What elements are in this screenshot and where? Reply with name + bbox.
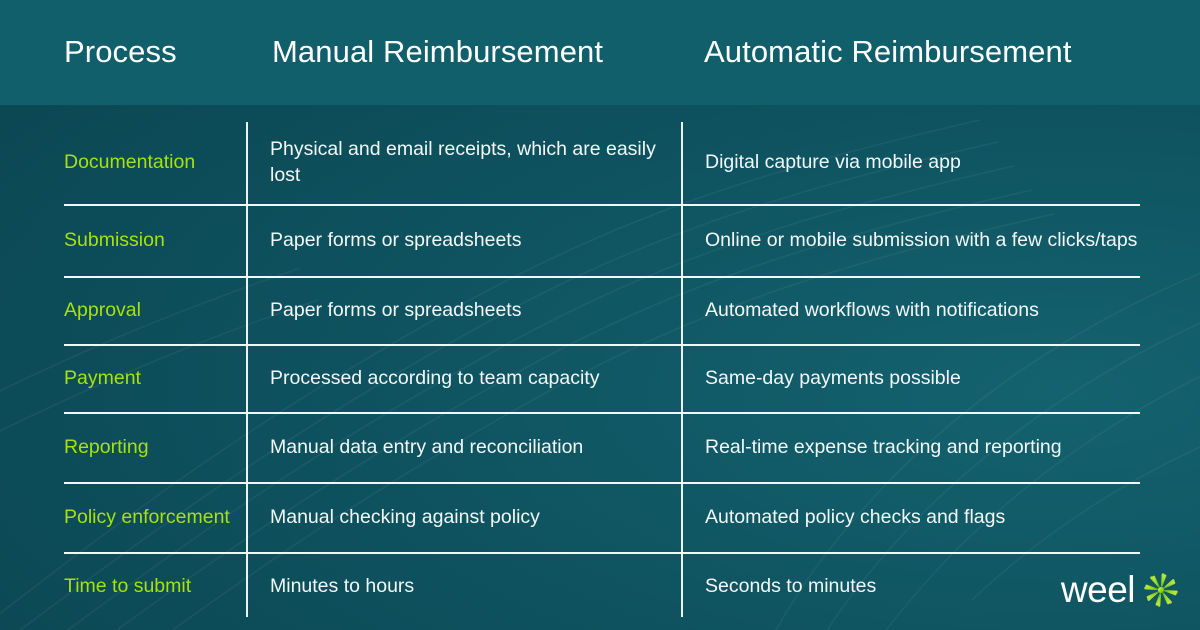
comparison-table-graphic: Process Manual Reimbursement Automatic R… xyxy=(0,0,1200,630)
row-automatic-cell: Automated policy checks and flags xyxy=(705,484,1145,552)
table-row: Approval Paper forms or spreadsheets Aut… xyxy=(0,278,1200,344)
row-automatic-text: Digital capture via mobile app xyxy=(705,150,961,176)
row-label-cell: Policy enforcement xyxy=(64,484,234,552)
row-automatic-cell: Same-day payments possible xyxy=(705,346,1145,412)
row-automatic-cell: Digital capture via mobile app xyxy=(705,122,1145,204)
row-manual-cell: Manual checking against policy xyxy=(270,484,670,552)
row-label: Policy enforcement xyxy=(64,505,230,531)
row-automatic-text: Automated workflows with notifications xyxy=(705,298,1039,324)
row-label: Time to submit xyxy=(64,574,191,600)
row-manual-text: Manual checking against policy xyxy=(270,505,540,531)
row-automatic-text: Online or mobile submission with a few c… xyxy=(705,228,1137,254)
row-manual-cell: Physical and email receipts, which are e… xyxy=(270,122,670,204)
header-cell-automatic-reimbursement: Automatic Reimbursement xyxy=(704,0,1072,105)
table-row: Payment Processed according to team capa… xyxy=(0,346,1200,412)
table-header-bar: Process Manual Reimbursement Automatic R… xyxy=(0,0,1200,105)
row-automatic-cell: Online or mobile submission with a few c… xyxy=(705,206,1145,276)
row-label-cell: Time to submit xyxy=(64,554,234,620)
table-row: Time to submit Minutes to hours Seconds … xyxy=(0,554,1200,620)
row-label: Approval xyxy=(64,298,141,324)
row-manual-text: Paper forms or spreadsheets xyxy=(270,228,521,254)
row-manual-cell: Minutes to hours xyxy=(270,554,670,620)
weel-pinwheel-icon xyxy=(1144,573,1178,607)
row-manual-text: Manual data entry and reconciliation xyxy=(270,435,583,461)
weel-wordmark: weel xyxy=(1061,571,1135,608)
row-manual-cell: Processed according to team capacity xyxy=(270,346,670,412)
row-automatic-text: Seconds to minutes xyxy=(705,574,876,600)
comparison-table-body: Documentation Physical and email receipt… xyxy=(0,105,1200,630)
row-label: Reporting xyxy=(64,435,149,461)
row-automatic-text: Real-time expense tracking and reporting xyxy=(705,435,1062,461)
row-automatic-text: Automated policy checks and flags xyxy=(705,505,1005,531)
weel-logo: weel xyxy=(1061,571,1178,608)
row-automatic-text: Same-day payments possible xyxy=(705,366,961,392)
row-manual-cell: Paper forms or spreadsheets xyxy=(270,206,670,276)
row-label-cell: Approval xyxy=(64,278,234,344)
row-label-cell: Documentation xyxy=(64,122,234,204)
row-manual-cell: Paper forms or spreadsheets xyxy=(270,278,670,344)
row-label: Submission xyxy=(64,228,165,254)
table-row: Reporting Manual data entry and reconcil… xyxy=(0,414,1200,482)
row-manual-cell: Manual data entry and reconciliation xyxy=(270,414,670,482)
row-manual-text: Physical and email receipts, which are e… xyxy=(270,137,670,189)
table-row: Policy enforcement Manual checking again… xyxy=(0,484,1200,552)
row-label-cell: Payment xyxy=(64,346,234,412)
row-manual-text: Minutes to hours xyxy=(270,574,414,600)
header-cell-manual-reimbursement: Manual Reimbursement xyxy=(272,0,603,105)
table-row: Submission Paper forms or spreadsheets O… xyxy=(0,206,1200,276)
row-automatic-cell: Real-time expense tracking and reporting xyxy=(705,414,1145,482)
row-manual-text: Processed according to team capacity xyxy=(270,366,600,392)
row-automatic-cell: Automated workflows with notifications xyxy=(705,278,1145,344)
row-label: Payment xyxy=(64,366,141,392)
table-row: Documentation Physical and email receipt… xyxy=(0,122,1200,204)
row-manual-text: Paper forms or spreadsheets xyxy=(270,298,521,324)
header-cell-process: Process xyxy=(64,0,177,105)
row-label: Documentation xyxy=(64,150,195,176)
row-label-cell: Reporting xyxy=(64,414,234,482)
row-label-cell: Submission xyxy=(64,206,234,276)
